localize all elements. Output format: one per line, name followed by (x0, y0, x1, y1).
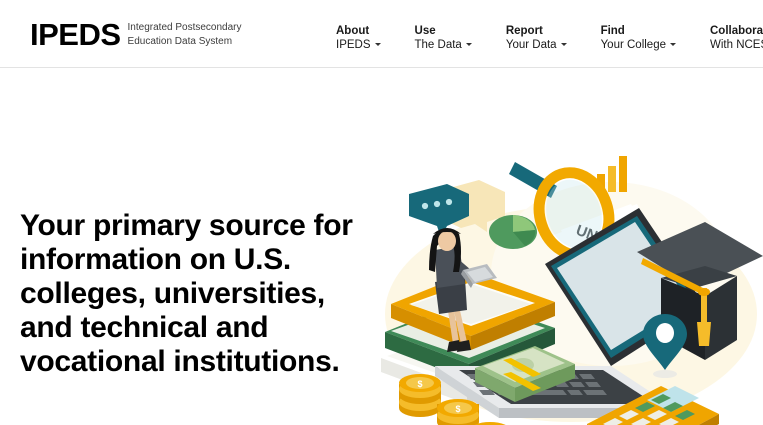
main-navigation: About IPEDS Use The Data Report Your Dat… (336, 24, 763, 53)
education-data-isometric-illustration: UNIVERSITY (375, 146, 763, 425)
coin-symbol: $ (417, 379, 422, 389)
page-title: Your primary source for information on U… (20, 209, 360, 379)
nav-item-find-your-college-top: Find (601, 24, 676, 38)
nav-label: IPEDS (336, 39, 371, 51)
pie-chart-icon (489, 215, 537, 249)
site-header: IPEDS Integrated Postsecondary Education… (0, 0, 763, 68)
coin-symbol: $ (455, 404, 460, 414)
nav-item-about-ipeds[interactable]: About IPEDS (336, 24, 381, 53)
nav-item-about-ipeds-top: About (336, 24, 381, 38)
chevron-down-icon (375, 43, 381, 46)
chevron-down-icon (466, 43, 472, 46)
nav-item-report-your-data-bottom: Your Data (506, 38, 567, 53)
nav-item-use-the-data[interactable]: Use The Data (415, 24, 472, 53)
brand-tagline-line1: Integrated Postsecondary (128, 22, 242, 33)
brand-logo[interactable]: IPEDS Integrated Postsecondary Education… (30, 19, 242, 50)
chevron-down-icon (561, 43, 567, 46)
nav-item-find-your-college-bottom: Your College (601, 38, 676, 53)
nav-label: The Data (415, 39, 462, 51)
nav-item-report-your-data[interactable]: Report Your Data (506, 24, 567, 53)
nav-item-find-your-college[interactable]: Find Your College (601, 24, 676, 53)
brand-wordmark: IPEDS (30, 19, 121, 50)
nav-item-collaborate-with-nces[interactable]: Collaborate With NCES (710, 24, 763, 53)
nav-item-collaborate-with-nces-top: Collaborate (710, 24, 763, 38)
nav-item-report-your-data-top: Report (506, 24, 567, 38)
chevron-down-icon (670, 43, 676, 46)
hero-section: Your primary source for information on U… (0, 68, 763, 425)
nav-item-use-the-data-top: Use (415, 24, 472, 38)
nav-item-about-ipeds-bottom: IPEDS (336, 38, 381, 53)
nav-label: With NCES (710, 39, 763, 51)
nav-label: Your College (601, 39, 666, 51)
nav-item-use-the-data-bottom: The Data (415, 38, 472, 53)
brand-tagline-line2: Education Data System (128, 36, 233, 47)
nav-item-collaborate-with-nces-bottom: With NCES (710, 38, 763, 53)
nav-label: Your Data (506, 39, 557, 51)
brand-tagline: Integrated Postsecondary Education Data … (128, 21, 242, 48)
